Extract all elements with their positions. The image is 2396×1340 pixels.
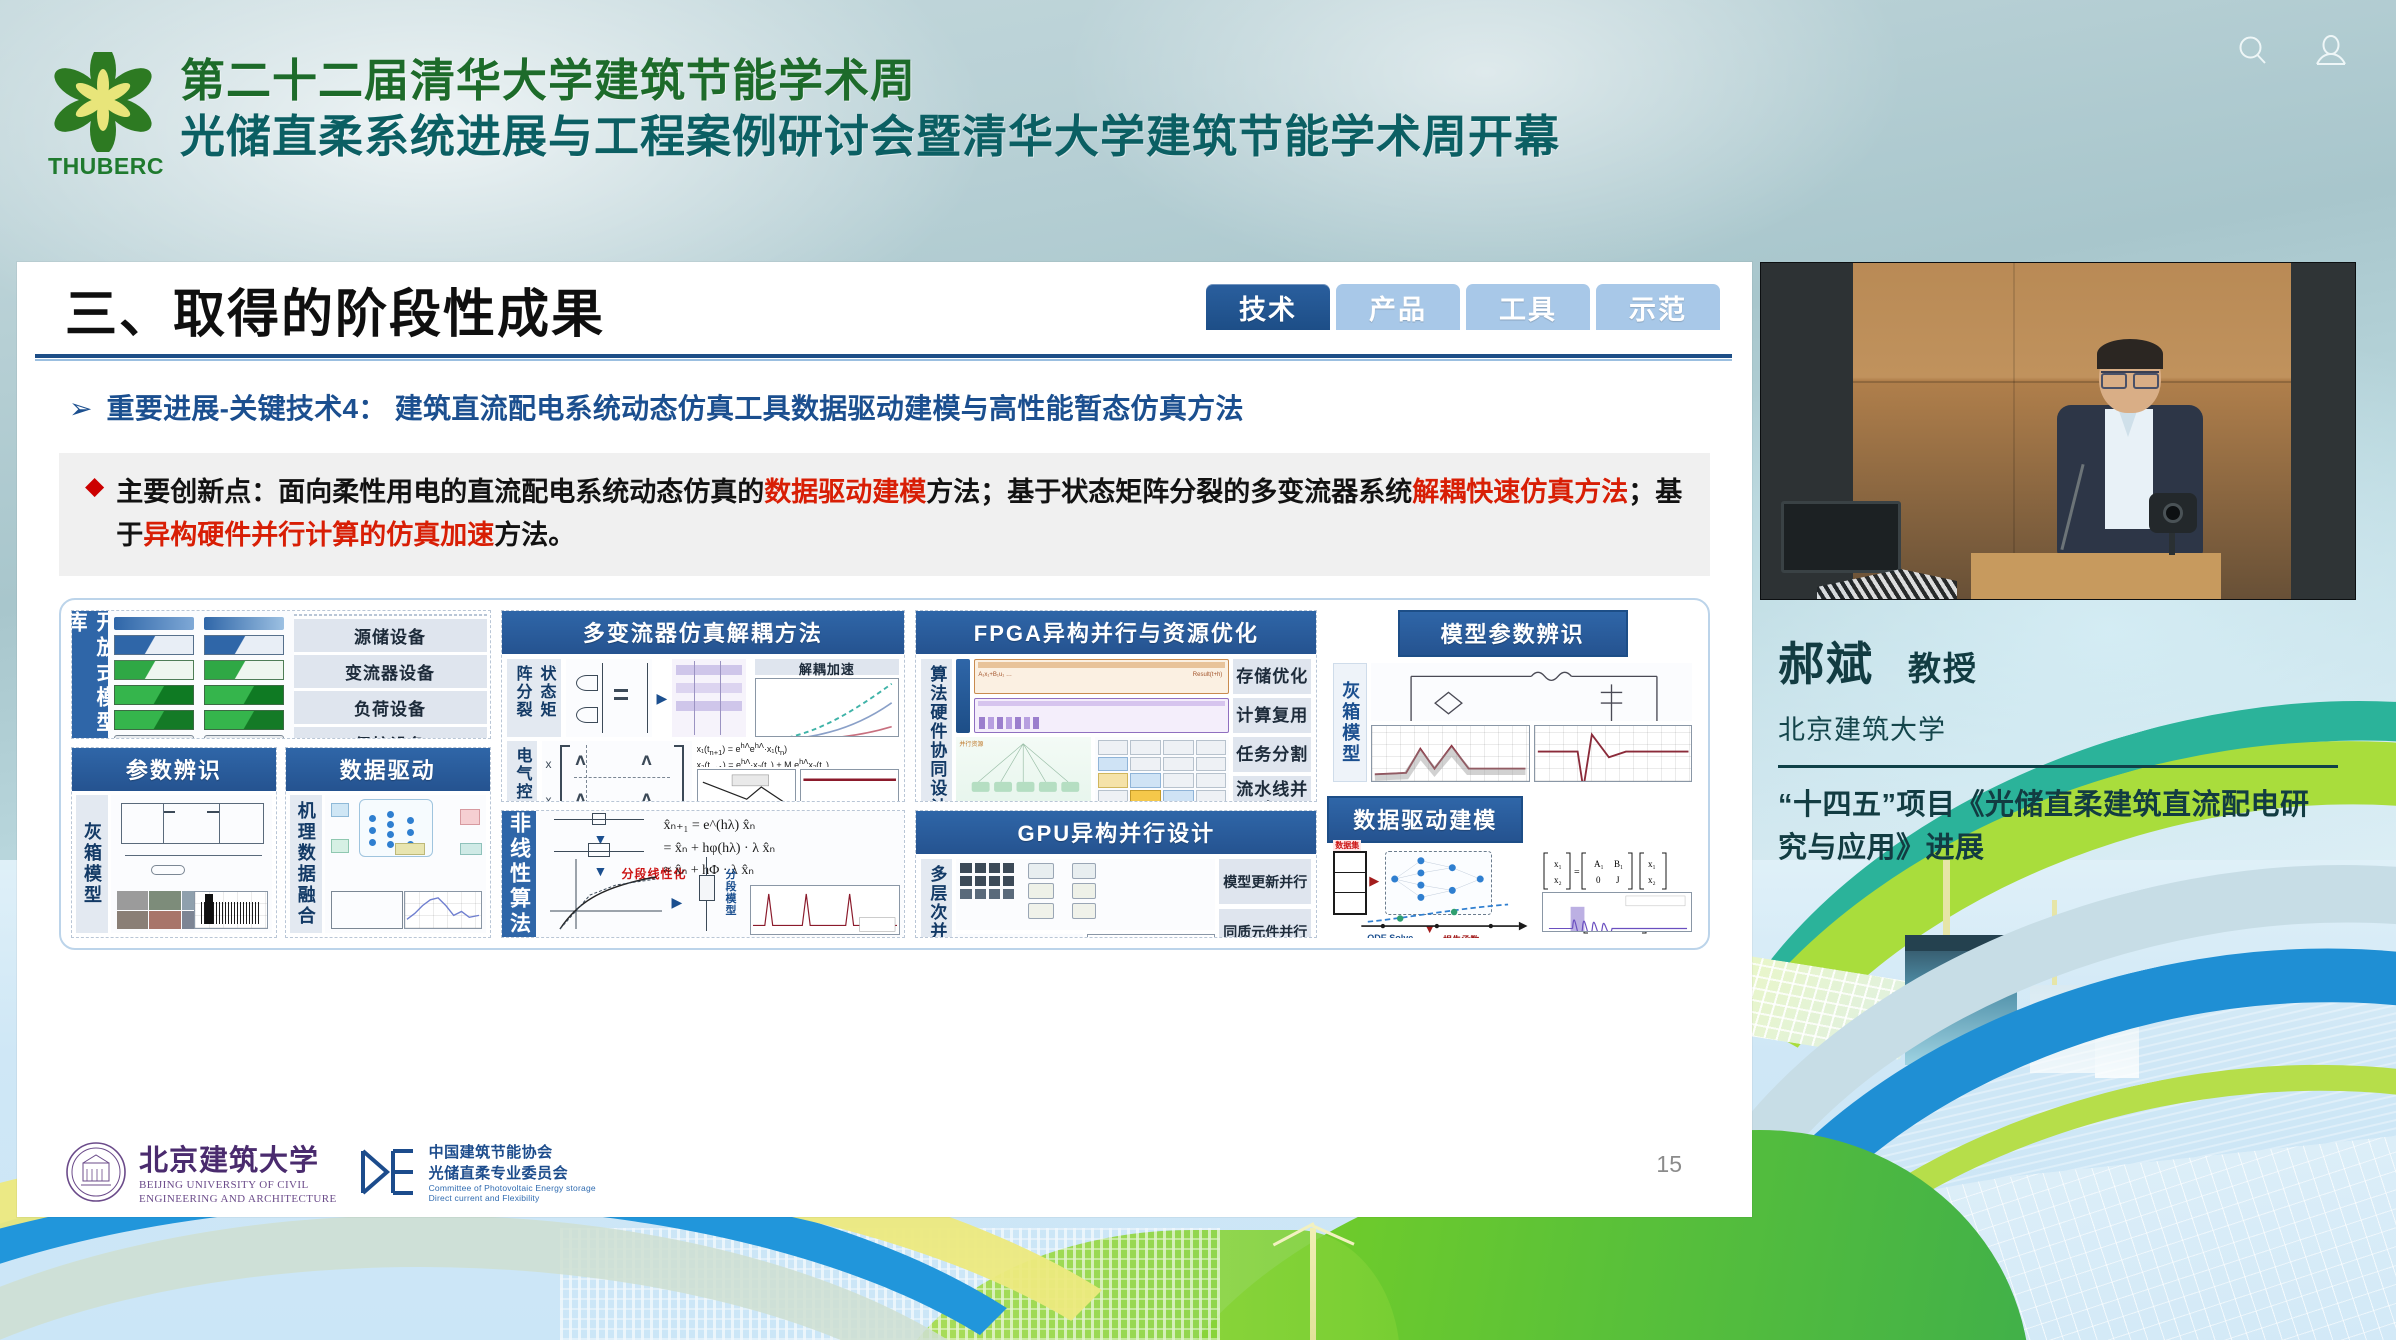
svg-text:x₂: x₂: [1648, 875, 1656, 885]
innovation-note-text: 主要创新点：面向柔性用电的直流配电系统动态仿真的数据驱动建模方法；基于状态矩阵分…: [116, 471, 1684, 556]
device-row-protection: 保护设备: [294, 727, 487, 739]
svg-text:A₁: A₁: [1594, 859, 1604, 869]
gpu-memory-grid: [956, 934, 1082, 939]
panel-gpu-parallel: GPU异构并行设计 多层次并行架构: [915, 810, 1317, 938]
arrow-bullet-icon: ➢: [69, 395, 92, 423]
fpga-pipeline-grid: [1095, 737, 1229, 802]
live-presentation-video[interactable]: [1760, 262, 2356, 600]
bucea-name-en-1: BEIJING UNIVERSITY OF CIVIL: [139, 1179, 337, 1193]
grey-box-circuit-sketch: [1371, 663, 1692, 721]
device-row-source-storage: 源储设备: [294, 619, 487, 652]
page-header: THUBERC 第二十二届清华大学建筑节能学术周 光储直柔系统进展与工程案例研讨…: [0, 0, 2396, 250]
speaker-panel: 郝斌 教授 北京建筑大学 “十四五”项目《光储直柔建筑直流配电研究与应用》进展: [1760, 262, 2372, 870]
panel-title-model-parameter-identification: 模型参数辨识: [1398, 610, 1628, 657]
cabee-logo-icon: [357, 1145, 419, 1199]
user-account-icon[interactable]: [2314, 34, 2348, 68]
cabee-wordmark: 中国建筑节能协会 光储直柔专业委员会 Committee of Photovol…: [429, 1141, 596, 1203]
grey-box-plot-1: [1371, 725, 1529, 783]
user-custom-model-block: 用户自定义模型 仿真工具 标准化接口函数: [294, 614, 487, 616]
svg-text:x₁: x₁: [1554, 859, 1562, 869]
cabee-logo: 中国建筑节能协会 光储直柔专业委员会 Committee of Photovol…: [357, 1141, 596, 1203]
gpu-speedup-chart: [1087, 934, 1215, 939]
fpga-resource-tree: 并行资源: [956, 737, 1090, 802]
svg-text:B₁: B₁: [1614, 859, 1623, 869]
chip-multilevel-parallel-arch: 多层次并行架构: [921, 859, 952, 938]
tab-tool[interactable]: 工具: [1466, 284, 1590, 330]
panel-nonlinear-algorithm: 非线性算法 ▼ ▼ 分段线性化 x̂ₙ₊₁ = e^(hλ) x̂ₙ = x̂ₙ…: [501, 810, 906, 938]
bucea-name-cn: 北京建筑大学: [139, 1137, 337, 1179]
panel-data-driven-modeling: 数据驱动建模 数据集 ▶: [1327, 796, 1698, 938]
cabee-name-cn-2: 光储直柔专业委员会: [429, 1162, 596, 1183]
speaker-organization: 北京建筑大学: [1778, 708, 2360, 747]
tab-technology[interactable]: 技术: [1206, 284, 1330, 330]
nonlinear-sketch: ▼ ▼ 分段线性化 x̂ₙ₊₁ = e^(hλ) x̂ₙ = x̂ₙ + hφ(…: [536, 811, 905, 937]
panel-title-gpu-parallel: GPU异构并行设计: [916, 811, 1316, 854]
panel-vlabel-nonlinear-algorithm: 非线性算法: [502, 811, 536, 937]
bucea-logo: 北京建筑大学 BEIJING UNIVERSITY OF CIVIL ENGIN…: [65, 1137, 337, 1207]
tab-demo[interactable]: 示范: [1596, 284, 1720, 330]
title-divider: [35, 354, 1732, 363]
header-titles: 第二十二届清华大学建筑节能学术周 光储直柔系统进展与工程案例研讨会暨清华大学建筑…: [180, 54, 1560, 163]
cabee-name-cn-1: 中国建筑节能协会: [429, 1141, 596, 1162]
search-icon[interactable]: [2236, 34, 2270, 68]
svg-text:x₁: x₁: [1648, 859, 1656, 869]
note-seg-3: 解耦快速仿真方法: [1412, 477, 1628, 507]
note-seg-5: 异构硬件并行计算的仿真加速: [143, 520, 494, 550]
cabee-name-en-2: Direct current and Flexibility: [429, 1193, 596, 1203]
innovation-note-box: ◆ 主要创新点：面向柔性用电的直流配电系统动态仿真的数据驱动建模方法；基于状态矩…: [59, 453, 1710, 576]
logo-wrap: THUBERC: [48, 52, 164, 180]
bucea-name-en-2: ENGINEERING AND ARCHITECTURE: [139, 1193, 337, 1207]
neural-net-sketch: [325, 795, 486, 933]
fpga-row-compute-reuse: 计算复用: [1233, 698, 1311, 733]
panel-title-multi-converter-decoupling: 多变流器仿真解耦方法: [502, 611, 905, 654]
brand-block: THUBERC 第二十二届清华大学建筑节能学术周 光储直柔系统进展与工程案例研讨…: [48, 52, 1560, 180]
data-driven-nn-sketch: 数据集 ▶: [1333, 849, 1538, 932]
event-title-line1: 第二十二届清华大学建筑节能学术周: [180, 54, 1560, 107]
speaker-title: 教授: [1908, 642, 1978, 690]
panel-title-fpga-parallel: FPGA异构并行与资源优化: [916, 611, 1316, 654]
grey-box-plot-2: [1534, 725, 1692, 783]
panel-parameter-identification: 参数辨识 灰箱模型: [71, 747, 277, 938]
diagram-column-2: 多变流器仿真解耦方法 状态矩阵分裂 ▶: [501, 610, 906, 938]
flower-logo-icon: [48, 52, 158, 152]
university-seal-icon: [65, 1141, 127, 1203]
footer-logos: 北京建筑大学 BEIJING UNIVERSITY OF CIVIL ENGIN…: [65, 1137, 596, 1207]
bucea-wordmark: 北京建筑大学 BEIJING UNIVERSITY OF CIVIL ENGIN…: [139, 1137, 337, 1207]
data-driven-matrix-equation: x₁x₂ = A₁B₁ 0J x₁x₂ + g(t,x₁,u₁) h(t,x₂,…: [1542, 849, 1692, 888]
header-actions: [2236, 34, 2348, 68]
panel-fpga-parallel: FPGA异构并行与资源优化 算法硬件协同设计 A₁x₁+B₁u₁ … Resul…: [915, 610, 1317, 802]
panel-model-parameter-identification: 模型参数辨识 灰箱模型: [1327, 610, 1698, 788]
converter-circuit-sketch: [566, 659, 652, 737]
speaker-info: 郝斌 教授 北京建筑大学 “十四五”项目《光储直柔建筑直流配电研究与应用》进展: [1760, 600, 2372, 870]
diagram-column-1: 开放式模型库: [71, 610, 491, 938]
panel-title-data-driven-modeling: 数据驱动建模: [1327, 796, 1523, 843]
slide-footer: 北京建筑大学 BEIJING UNIVERSITY OF CIVIL ENGIN…: [17, 1121, 1752, 1217]
diamond-bullet-icon: ◆: [85, 471, 104, 502]
presentation-slide[interactable]: 三、取得的阶段性成果 技术 产品 工具 示范 ➢ 重要进展-关键技术4： 建筑直…: [17, 262, 1752, 1217]
chip-state-matrix-splitting: 状态矩阵分裂: [507, 659, 561, 737]
speaker-divider: [1778, 765, 2338, 768]
slide-page-number: 15: [1656, 1151, 1682, 1178]
data-driven-result-plot: [1542, 892, 1692, 933]
panel-open-model-library: 开放式模型库: [71, 610, 491, 739]
tag-piecewise-model: 分段模型: [726, 869, 740, 917]
technical-diagram-grid: 开放式模型库: [59, 598, 1710, 950]
note-seg-6: 方法。: [494, 520, 575, 550]
matrix-split-sketch: [672, 659, 746, 737]
speaker-name: 郝斌: [1778, 628, 1874, 694]
gpu-row-homogeneous: 同质元件并行: [1219, 909, 1311, 938]
camera: [2145, 493, 2201, 555]
fpga-row-storage-opt: 存储优化: [1233, 659, 1311, 694]
progress-bullet-row: ➢ 重要进展-关键技术4： 建筑直流配电系统动态仿真工具数据驱动建模与高性能暂态…: [69, 387, 1752, 427]
tab-product[interactable]: 产品: [1336, 284, 1460, 330]
note-seg-2: 方法；基于状态矩阵分裂的多变流器系统: [926, 477, 1412, 507]
fpga-row-pipeline-parallel: 流水线并行: [1233, 776, 1311, 802]
device-row-converter: 变流器设备: [294, 655, 487, 688]
badge-decoupling-speedup: 解耦加速: [755, 659, 900, 675]
slide-title: 三、取得的阶段性成果: [65, 272, 605, 347]
panel-vlabel-open-model-library: 开放式模型库: [72, 611, 108, 738]
panel-data-driven: 数据驱动 机理数据融合: [285, 747, 491, 938]
note-seg-0: 主要创新点：面向柔性用电的直流配电系统动态仿真的: [116, 477, 764, 507]
svg-text:x₂: x₂: [1554, 875, 1562, 885]
podium: [1971, 553, 2221, 599]
chip-grey-box-model-2: 灰箱模型: [1333, 663, 1367, 782]
panel-title-parameter-identification: 参数辨识: [72, 748, 276, 791]
chip-grey-box-model: 灰箱模型: [76, 795, 108, 933]
panel-multi-converter-decoupling: 多变流器仿真解耦方法 状态矩阵分裂 ▶: [501, 610, 906, 802]
progress-bullet-text: 重要进展-关键技术4： 建筑直流配电系统动态仿真工具数据驱动建模与高性能暂态仿真…: [106, 387, 1243, 427]
fpga-row-task-split: 任务分割: [1233, 737, 1311, 772]
svg-text:=: =: [1574, 867, 1580, 878]
chip-electric-control-reduction: 电气控制降阶联立: [507, 741, 537, 802]
diagram-column-4: 模型参数辨识 灰箱模型: [1327, 610, 1698, 938]
svg-text:0: 0: [1596, 875, 1601, 885]
device-row-load: 负荷设备: [294, 691, 487, 724]
chip-algorithm-hardware-codesign: 算法硬件协同设计: [921, 659, 952, 802]
logo-wordmark: THUBERC: [48, 153, 164, 180]
gpu-thread-diagram: [956, 859, 1215, 930]
chip-mechanism-data-fusion: 机理数据融合: [290, 795, 322, 933]
panel-title-data-driven: 数据驱动: [286, 748, 490, 791]
slide-tab-group: 技术 产品 工具 示范: [1206, 284, 1720, 330]
diagram-column-3: FPGA异构并行与资源优化 算法硬件协同设计 A₁x₁+B₁u₁ … Resul…: [915, 610, 1317, 938]
slide-header: 三、取得的阶段性成果 技术 产品 工具 示范: [17, 262, 1752, 354]
wind-turbine-illustration: [1310, 1228, 1316, 1340]
label-ode-solve: ODE Solve: [1367, 933, 1413, 938]
event-title-line2: 光储直柔系统进展与工程案例研讨会暨清华大学建筑节能学术周开幕: [180, 110, 1560, 163]
laptop: [1781, 501, 1901, 573]
fpga-optimization-list: 存储优化 计算复用 任务分割 流水线并行: [1233, 659, 1311, 802]
speaker-topic: “十四五”项目《光储直柔建筑直流配电研究与应用》进展: [1778, 784, 2338, 870]
note-seg-1: 数据驱动建模: [764, 477, 926, 507]
equation-1: x̂ₙ₊₁ = e^(hλ) x̂ₙ: [664, 815, 776, 837]
cabee-name-en-1: Committee of Photovoltaic Energy storage: [429, 1183, 596, 1193]
label-loss-function: 损失函数: [1443, 933, 1479, 938]
circuit-sketch: [111, 795, 272, 933]
device-category-list: 用户自定义模型 仿真工具 标准化接口函数 源储设备 变流器设备 负荷设备 保护设…: [294, 611, 490, 738]
matrix-bracket-sketch: 𝝠 𝝠 𝝠 𝝠 x x: [542, 741, 692, 802]
model-icon-matrix: [108, 611, 294, 738]
gpu-parallel-list: 模型更新并行 同质元件并行 任务层级并行: [1219, 859, 1311, 938]
svg-text:J: J: [1616, 875, 1620, 885]
gpu-row-model-update: 模型更新并行: [1219, 859, 1311, 904]
